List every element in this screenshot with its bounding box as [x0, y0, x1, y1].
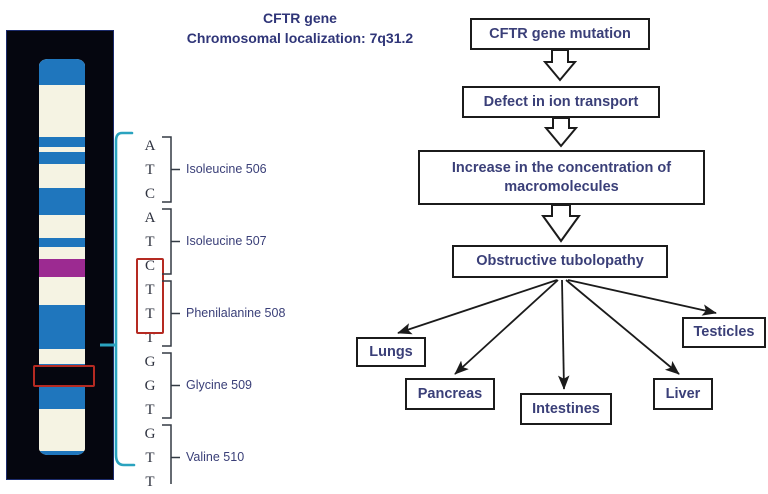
chromosome-body [39, 59, 85, 455]
band-blue [39, 137, 85, 147]
band-blue [39, 188, 85, 215]
arrow-to-lungs [398, 280, 557, 333]
band-light [39, 215, 85, 238]
codon-label: Valine 510 [186, 450, 244, 464]
codon-label: Phenilalanine 508 [186, 306, 285, 320]
chevron-arrow-increase-tubolopathy [543, 205, 579, 241]
centromere-band [39, 259, 85, 277]
arrow-to-testicles [568, 280, 716, 313]
title-line-gene: CFTR gene [150, 8, 450, 28]
band-light [39, 277, 85, 305]
locus-highlight-box [33, 365, 95, 387]
flow-node-lungs[interactable]: Lungs [356, 337, 426, 367]
codon-bracket [162, 209, 171, 274]
flow-node-increase[interactable]: Increase in the concentration of macromo… [418, 150, 705, 205]
band-blue [39, 238, 85, 247]
arrow-to-liver [566, 280, 679, 374]
title-line-localization: Chromosomal localization: 7q31.2 [150, 28, 450, 48]
arrow-to-intestines [562, 280, 564, 389]
band-light [39, 247, 85, 259]
codon-bracket [162, 425, 171, 484]
codon-bracket [162, 137, 171, 202]
codon-bracket [162, 353, 171, 418]
flow-node-liver[interactable]: Liver [653, 378, 713, 410]
band-blue [39, 451, 85, 455]
band-blue [39, 59, 85, 85]
flow-node-defect[interactable]: Defect in ion transport [462, 86, 660, 118]
band-blue [39, 305, 85, 349]
codon-label: Isoleucine 507 [186, 234, 267, 248]
codon-bracket [162, 281, 171, 346]
band-blue [39, 152, 85, 164]
codon-label: Glycine 509 [186, 378, 252, 392]
band-light [39, 164, 85, 188]
codon-label: Isoleucine 506 [186, 162, 267, 176]
flow-node-tubolopathy[interactable]: Obstructive tubolopathy [452, 245, 668, 278]
arrow-to-pancreas [455, 280, 558, 374]
teal-connector-bracket [96, 125, 144, 485]
flow-node-testicles[interactable]: Testicles [682, 317, 766, 348]
band-light [39, 409, 85, 451]
chevron-arrow-defect-increase [546, 118, 576, 146]
page-title: CFTR gene Chromosomal localization: 7q31… [150, 8, 450, 48]
codon-brackets [158, 134, 186, 484]
band-light [39, 85, 85, 137]
chevron-arrow-mutation-defect [545, 50, 575, 80]
band-light [39, 349, 85, 364]
band-blue [39, 384, 85, 409]
flow-node-mutation[interactable]: CFTR gene mutation [470, 18, 650, 50]
flow-node-pancreas[interactable]: Pancreas [405, 378, 495, 410]
diagram-stage: CFTR gene Chromosomal localization: 7q31… [0, 0, 768, 487]
flow-node-intestines[interactable]: Intestines [520, 393, 612, 425]
